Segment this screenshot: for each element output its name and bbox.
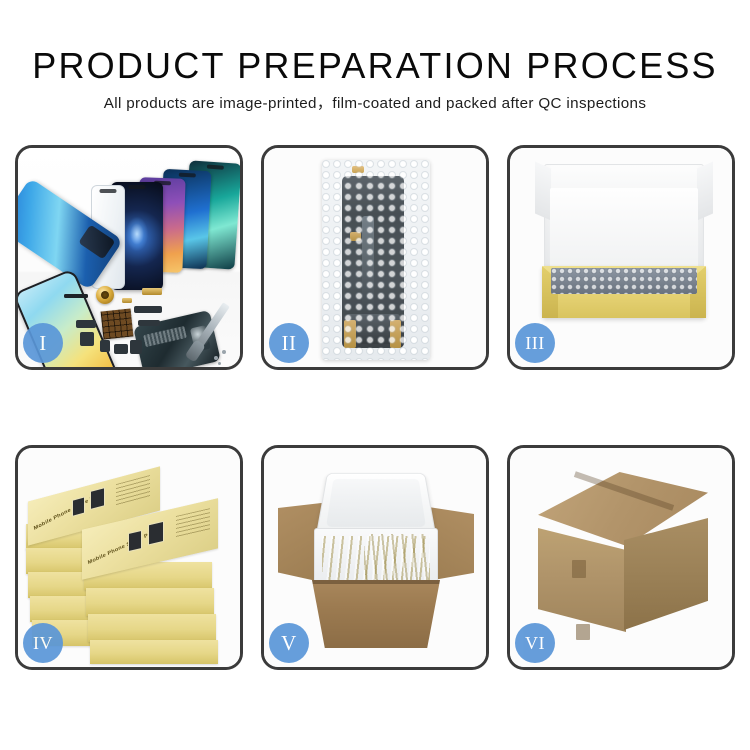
carton-body [312, 580, 440, 648]
gold-contact [142, 288, 162, 295]
notch-icon [207, 165, 224, 170]
tape-piece [390, 320, 401, 348]
box-artwork-screen [90, 487, 105, 510]
step-badge-1: I [23, 323, 63, 363]
step-badge-4: IV [23, 623, 63, 663]
foam-lid [316, 473, 436, 535]
notch-icon [129, 185, 146, 189]
process-step-6: VI [507, 445, 735, 670]
screw [222, 350, 226, 354]
flex-cable [130, 340, 142, 354]
notch-icon [100, 189, 117, 193]
bubble-wrap-bag [322, 160, 430, 360]
chip-grid-component [101, 309, 134, 340]
flex-cable [138, 320, 160, 326]
part-bar [64, 294, 88, 298]
flex-cable [100, 340, 110, 352]
process-step-3: III [507, 145, 735, 370]
flex-cable [114, 344, 128, 354]
grey-bubble-wrap [551, 268, 697, 294]
carton-handle-tab [576, 624, 590, 640]
process-step-grid: I II III [15, 145, 735, 685]
stacked-box [88, 614, 216, 642]
tape-piece [344, 320, 356, 348]
step-badge-5: V [269, 623, 309, 663]
carton-handle-tab [572, 560, 586, 578]
page-subtitle: All products are image-printed，film-coat… [0, 94, 750, 114]
step-badge-3: III [515, 323, 555, 363]
box-artwork-screen [128, 530, 142, 552]
carton-front-face [538, 528, 626, 632]
process-step-4: Mobile Phone Spare Parts Mobile Phone Sp… [15, 445, 243, 670]
stacked-box [86, 588, 214, 616]
tape-piece [352, 166, 364, 173]
box-artwork-screen [72, 496, 85, 516]
flex-cable [134, 306, 162, 313]
stacked-box [90, 640, 218, 664]
notch-icon [179, 173, 196, 177]
gold-contact [122, 298, 132, 303]
flex-cable [76, 320, 96, 328]
screw [218, 362, 221, 365]
tape-piece [350, 232, 361, 241]
process-step-5: V [261, 445, 489, 670]
header: PRODUCT PREPARATION PROCESS All products… [0, 0, 750, 114]
yellow-boxes-inside [364, 534, 430, 582]
product-preparation-infographic: PRODUCT PREPARATION PROCESS All products… [0, 0, 750, 750]
step-badge-2: II [269, 323, 309, 363]
process-step-1: I [15, 145, 243, 370]
page-title: PRODUCT PREPARATION PROCESS [0, 47, 750, 85]
screw [214, 356, 218, 360]
box-artwork-screen [148, 521, 164, 546]
flex-cable [80, 332, 94, 346]
step-badge-6: VI [515, 623, 555, 663]
coil-component [96, 286, 114, 304]
white-foam-sheet [550, 188, 698, 268]
process-step-2: II [261, 145, 489, 370]
